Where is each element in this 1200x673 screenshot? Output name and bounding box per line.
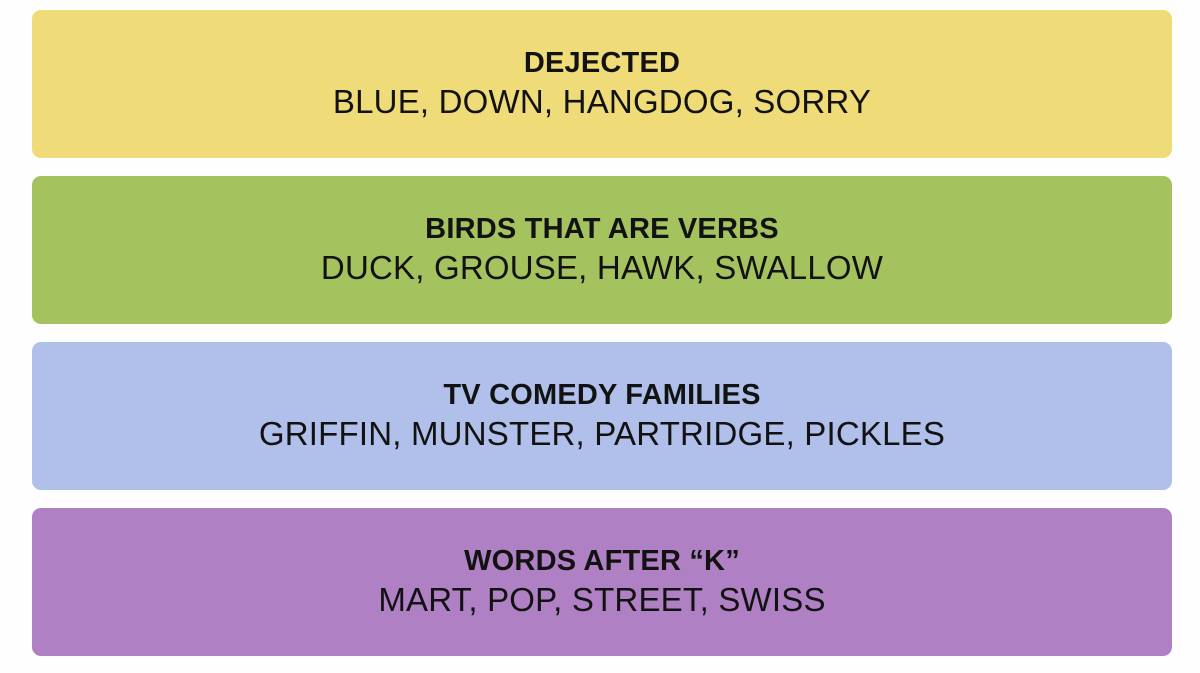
category-words: MART, POP, STREET, SWISS <box>378 582 825 619</box>
category-card-purple: WORDS AFTER “K” MART, POP, STREET, SWISS <box>32 508 1172 656</box>
solution-board: DEJECTED BLUE, DOWN, HANGDOG, SORRY BIRD… <box>0 0 1200 673</box>
category-words: BLUE, DOWN, HANGDOG, SORRY <box>333 84 871 121</box>
category-title: DEJECTED <box>524 47 680 79</box>
category-words: GRIFFIN, MUNSTER, PARTRIDGE, PICKLES <box>259 416 945 453</box>
category-card-green: BIRDS THAT ARE VERBS DUCK, GROUSE, HAWK,… <box>32 176 1172 324</box>
category-card-yellow: DEJECTED BLUE, DOWN, HANGDOG, SORRY <box>32 10 1172 158</box>
category-title: TV COMEDY FAMILIES <box>443 379 760 411</box>
category-title: BIRDS THAT ARE VERBS <box>425 213 779 245</box>
category-words: DUCK, GROUSE, HAWK, SWALLOW <box>321 250 883 287</box>
category-title: WORDS AFTER “K” <box>464 545 740 577</box>
category-card-blue: TV COMEDY FAMILIES GRIFFIN, MUNSTER, PAR… <box>32 342 1172 490</box>
